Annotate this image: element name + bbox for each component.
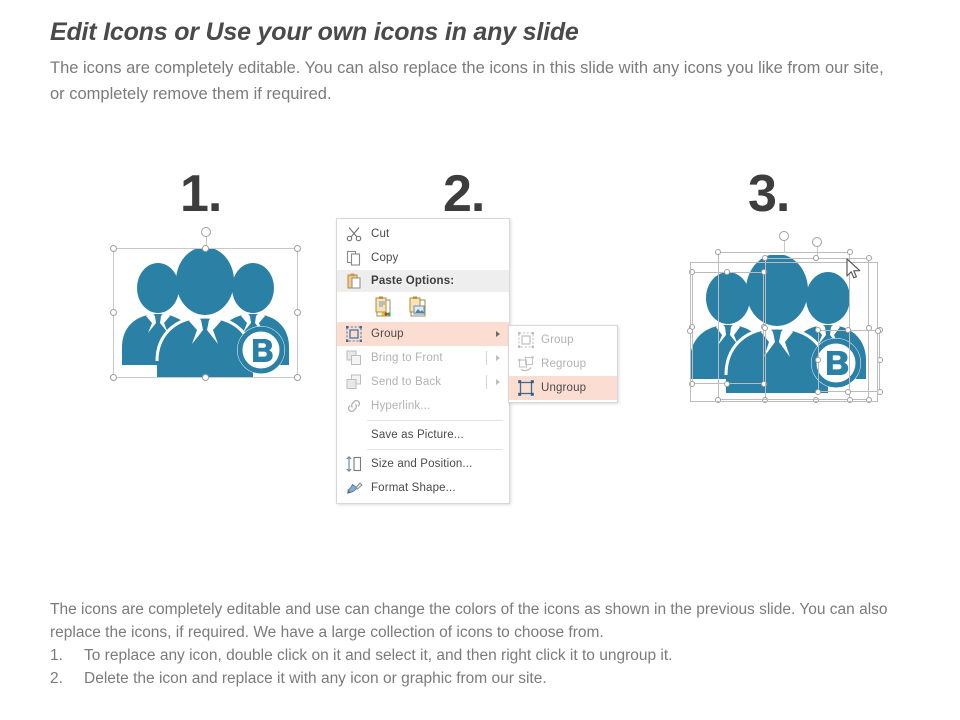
paste-keep-source-formatting-button[interactable] bbox=[373, 296, 395, 318]
size-position-icon bbox=[345, 455, 363, 473]
copy-icon bbox=[345, 249, 363, 267]
resize-handle-middle-right[interactable] bbox=[877, 357, 883, 363]
menu-item-save-as-picture[interactable]: Save as Picture... bbox=[337, 423, 509, 447]
menu-item-size-and-position[interactable]: Size and Position... bbox=[337, 452, 509, 476]
menu-item-label: Format Shape... bbox=[371, 482, 456, 494]
menu-item-format-shape[interactable]: Format Shape... bbox=[337, 476, 509, 500]
resize-handle-bottom-right[interactable] bbox=[847, 397, 853, 403]
menu-divider bbox=[486, 351, 487, 365]
resize-handle-bottom-right[interactable] bbox=[877, 389, 883, 395]
submenu-item-label: Group bbox=[541, 334, 574, 346]
page-title: Edit Icons or Use your own icons in any … bbox=[50, 18, 579, 47]
list-item-number: 1. bbox=[50, 644, 72, 667]
submenu-item-ungroup[interactable]: Ungroup bbox=[509, 376, 617, 400]
menu-item-paste-options: Paste Options: bbox=[337, 270, 509, 292]
list-item: 2. Delete the icon and replace it with a… bbox=[50, 667, 930, 690]
footer-list: 1. To replace any icon, double click on … bbox=[50, 644, 930, 690]
send-to-back-icon bbox=[345, 373, 363, 391]
chevron-right-icon bbox=[496, 331, 500, 337]
menu-item-label: Bring to Front bbox=[371, 352, 443, 364]
menu-item-cut[interactable]: Cut bbox=[337, 222, 509, 246]
format-shape-icon bbox=[345, 479, 363, 497]
menu-item-group[interactable]: Group bbox=[337, 322, 509, 346]
regroup-shapes-icon bbox=[517, 355, 535, 373]
step-number-3: 3. bbox=[748, 168, 789, 220]
menu-item-label: Paste Options: bbox=[371, 275, 454, 287]
team-people-badge-icon-1[interactable] bbox=[113, 248, 298, 378]
menu-item-label: Size and Position... bbox=[371, 458, 472, 470]
menu-item-label: Send to Back bbox=[371, 376, 441, 388]
group-shapes-icon bbox=[517, 331, 535, 349]
menu-divider bbox=[486, 375, 487, 389]
page-subtitle: The icons are completely editable. You c… bbox=[50, 55, 890, 107]
group-shapes-icon bbox=[345, 325, 363, 343]
menu-separator bbox=[367, 420, 503, 421]
chevron-right-icon bbox=[496, 355, 500, 361]
step-number-2: 2. bbox=[443, 168, 484, 220]
list-item-number: 2. bbox=[50, 667, 72, 690]
menu-item-label: Save as Picture... bbox=[371, 429, 464, 441]
resize-handle-bottom-center[interactable] bbox=[813, 397, 819, 403]
bring-to-front-icon bbox=[345, 349, 363, 367]
rotation-handle[interactable] bbox=[201, 227, 211, 237]
resize-handle-top-right[interactable] bbox=[877, 327, 883, 333]
menu-item-hyperlink[interactable]: Hyperlink... bbox=[337, 394, 509, 418]
menu-item-label: Cut bbox=[371, 228, 389, 240]
rotation-handle[interactable] bbox=[779, 231, 789, 241]
resize-handle-bottom-right[interactable] bbox=[866, 397, 872, 403]
hyperlink-icon bbox=[345, 397, 363, 415]
footer-block: The icons are completely editable and us… bbox=[50, 598, 930, 690]
list-item-text: To replace any icon, double click on it … bbox=[84, 647, 672, 664]
rotation-handle[interactable] bbox=[812, 237, 822, 247]
menu-item-send-to-back[interactable]: Send to Back bbox=[337, 370, 509, 394]
submenu-item-group[interactable]: Group bbox=[509, 328, 617, 352]
paste-options-buttons bbox=[337, 292, 509, 322]
resize-handle-bottom-left[interactable] bbox=[715, 397, 721, 403]
menu-item-bring-to-front[interactable]: Bring to Front bbox=[337, 346, 509, 370]
submenu-item-label: Regroup bbox=[541, 358, 586, 370]
slide-canvas: Edit Icons or Use your own icons in any … bbox=[0, 0, 960, 720]
chevron-right-icon bbox=[496, 379, 500, 385]
rotation-stem bbox=[784, 240, 785, 253]
mouse-cursor-icon bbox=[846, 258, 862, 280]
menu-item-copy[interactable]: Copy bbox=[337, 246, 509, 270]
scissors-icon bbox=[345, 225, 363, 243]
footer-paragraph: The icons are completely editable and us… bbox=[50, 598, 930, 644]
menu-item-label: Hyperlink... bbox=[371, 400, 430, 412]
resize-handle-bottom-left[interactable] bbox=[762, 397, 768, 403]
resize-handle-middle-right[interactable] bbox=[875, 328, 881, 334]
menu-separator bbox=[367, 449, 503, 450]
paste-clipboard-icon bbox=[345, 272, 363, 290]
menu-item-label: Group bbox=[371, 328, 404, 340]
submenu-item-label: Ungroup bbox=[541, 382, 586, 394]
list-item-text: Delete the icon and replace it with any … bbox=[84, 670, 547, 687]
step-number-1: 1. bbox=[180, 168, 221, 220]
list-item: 1. To replace any icon, double click on … bbox=[50, 644, 930, 667]
ungroup-shapes-icon bbox=[517, 379, 535, 397]
menu-item-label: Copy bbox=[371, 252, 398, 264]
context-menu[interactable]: Cut Copy Paste Options: bbox=[336, 218, 510, 504]
submenu-item-regroup[interactable]: Regroup bbox=[509, 352, 617, 376]
group-submenu[interactable]: Group Regroup Ungroup bbox=[508, 325, 618, 403]
paste-picture-button[interactable] bbox=[407, 296, 429, 318]
